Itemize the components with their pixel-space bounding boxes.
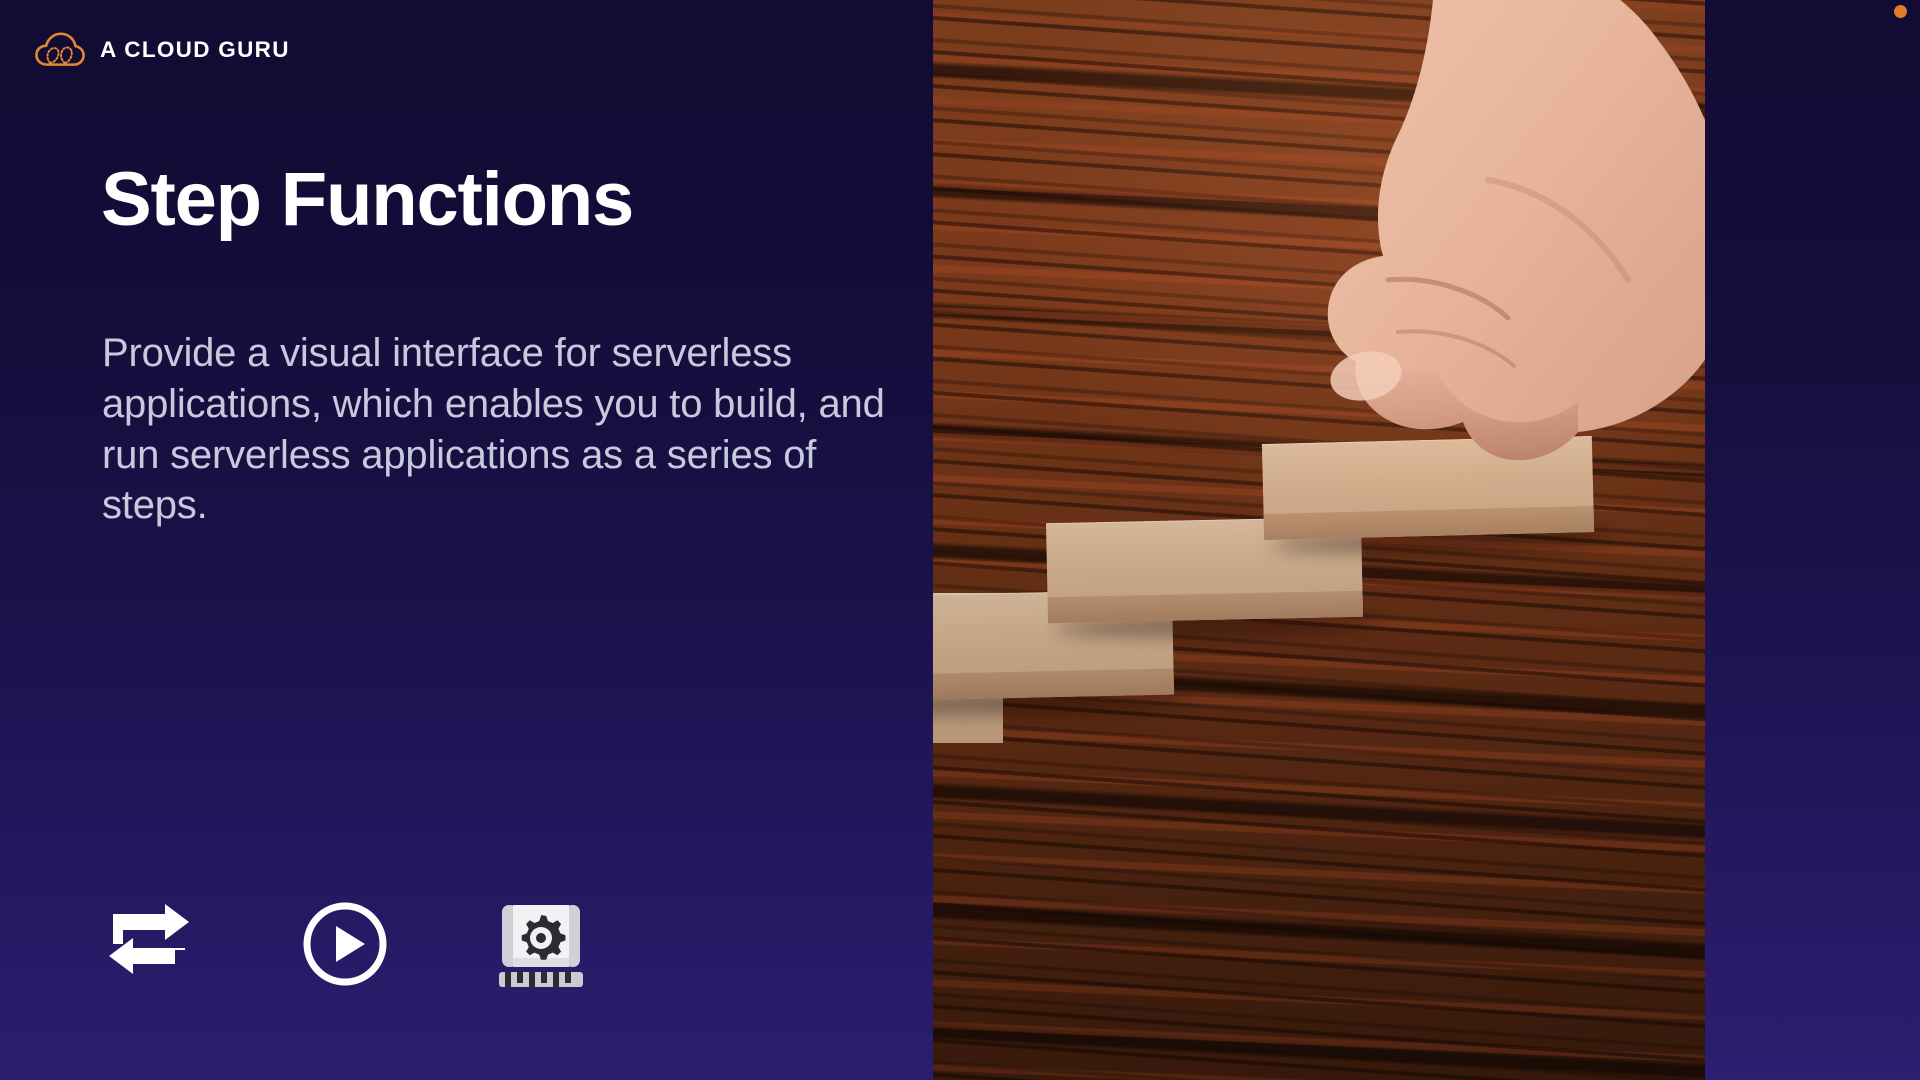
slide-root: A CLOUD GURU Step Functions Provide a vi… xyxy=(0,0,1920,1080)
brand-name: A CLOUD GURU xyxy=(100,39,290,62)
cloud-outline-icon xyxy=(34,30,86,70)
page-title: Step Functions xyxy=(101,160,633,240)
right-background-strip xyxy=(1705,0,1920,1080)
play-circle-icon[interactable] xyxy=(297,896,393,992)
slide-body-text: Provide a visual interface for serverles… xyxy=(102,328,892,531)
brand-lockup: A CLOUD GURU xyxy=(34,30,290,70)
icon-row xyxy=(101,896,589,992)
wooden-blocks-steps-photo xyxy=(933,0,1705,1080)
repeat-loop-icon[interactable] xyxy=(101,896,197,992)
left-content-panel: A CLOUD GURU Step Functions Provide a vi… xyxy=(0,0,933,1080)
blueprint-gear-icon[interactable] xyxy=(493,896,589,992)
hand-illustration xyxy=(1188,0,1705,560)
corner-accent-dot xyxy=(1894,5,1907,18)
